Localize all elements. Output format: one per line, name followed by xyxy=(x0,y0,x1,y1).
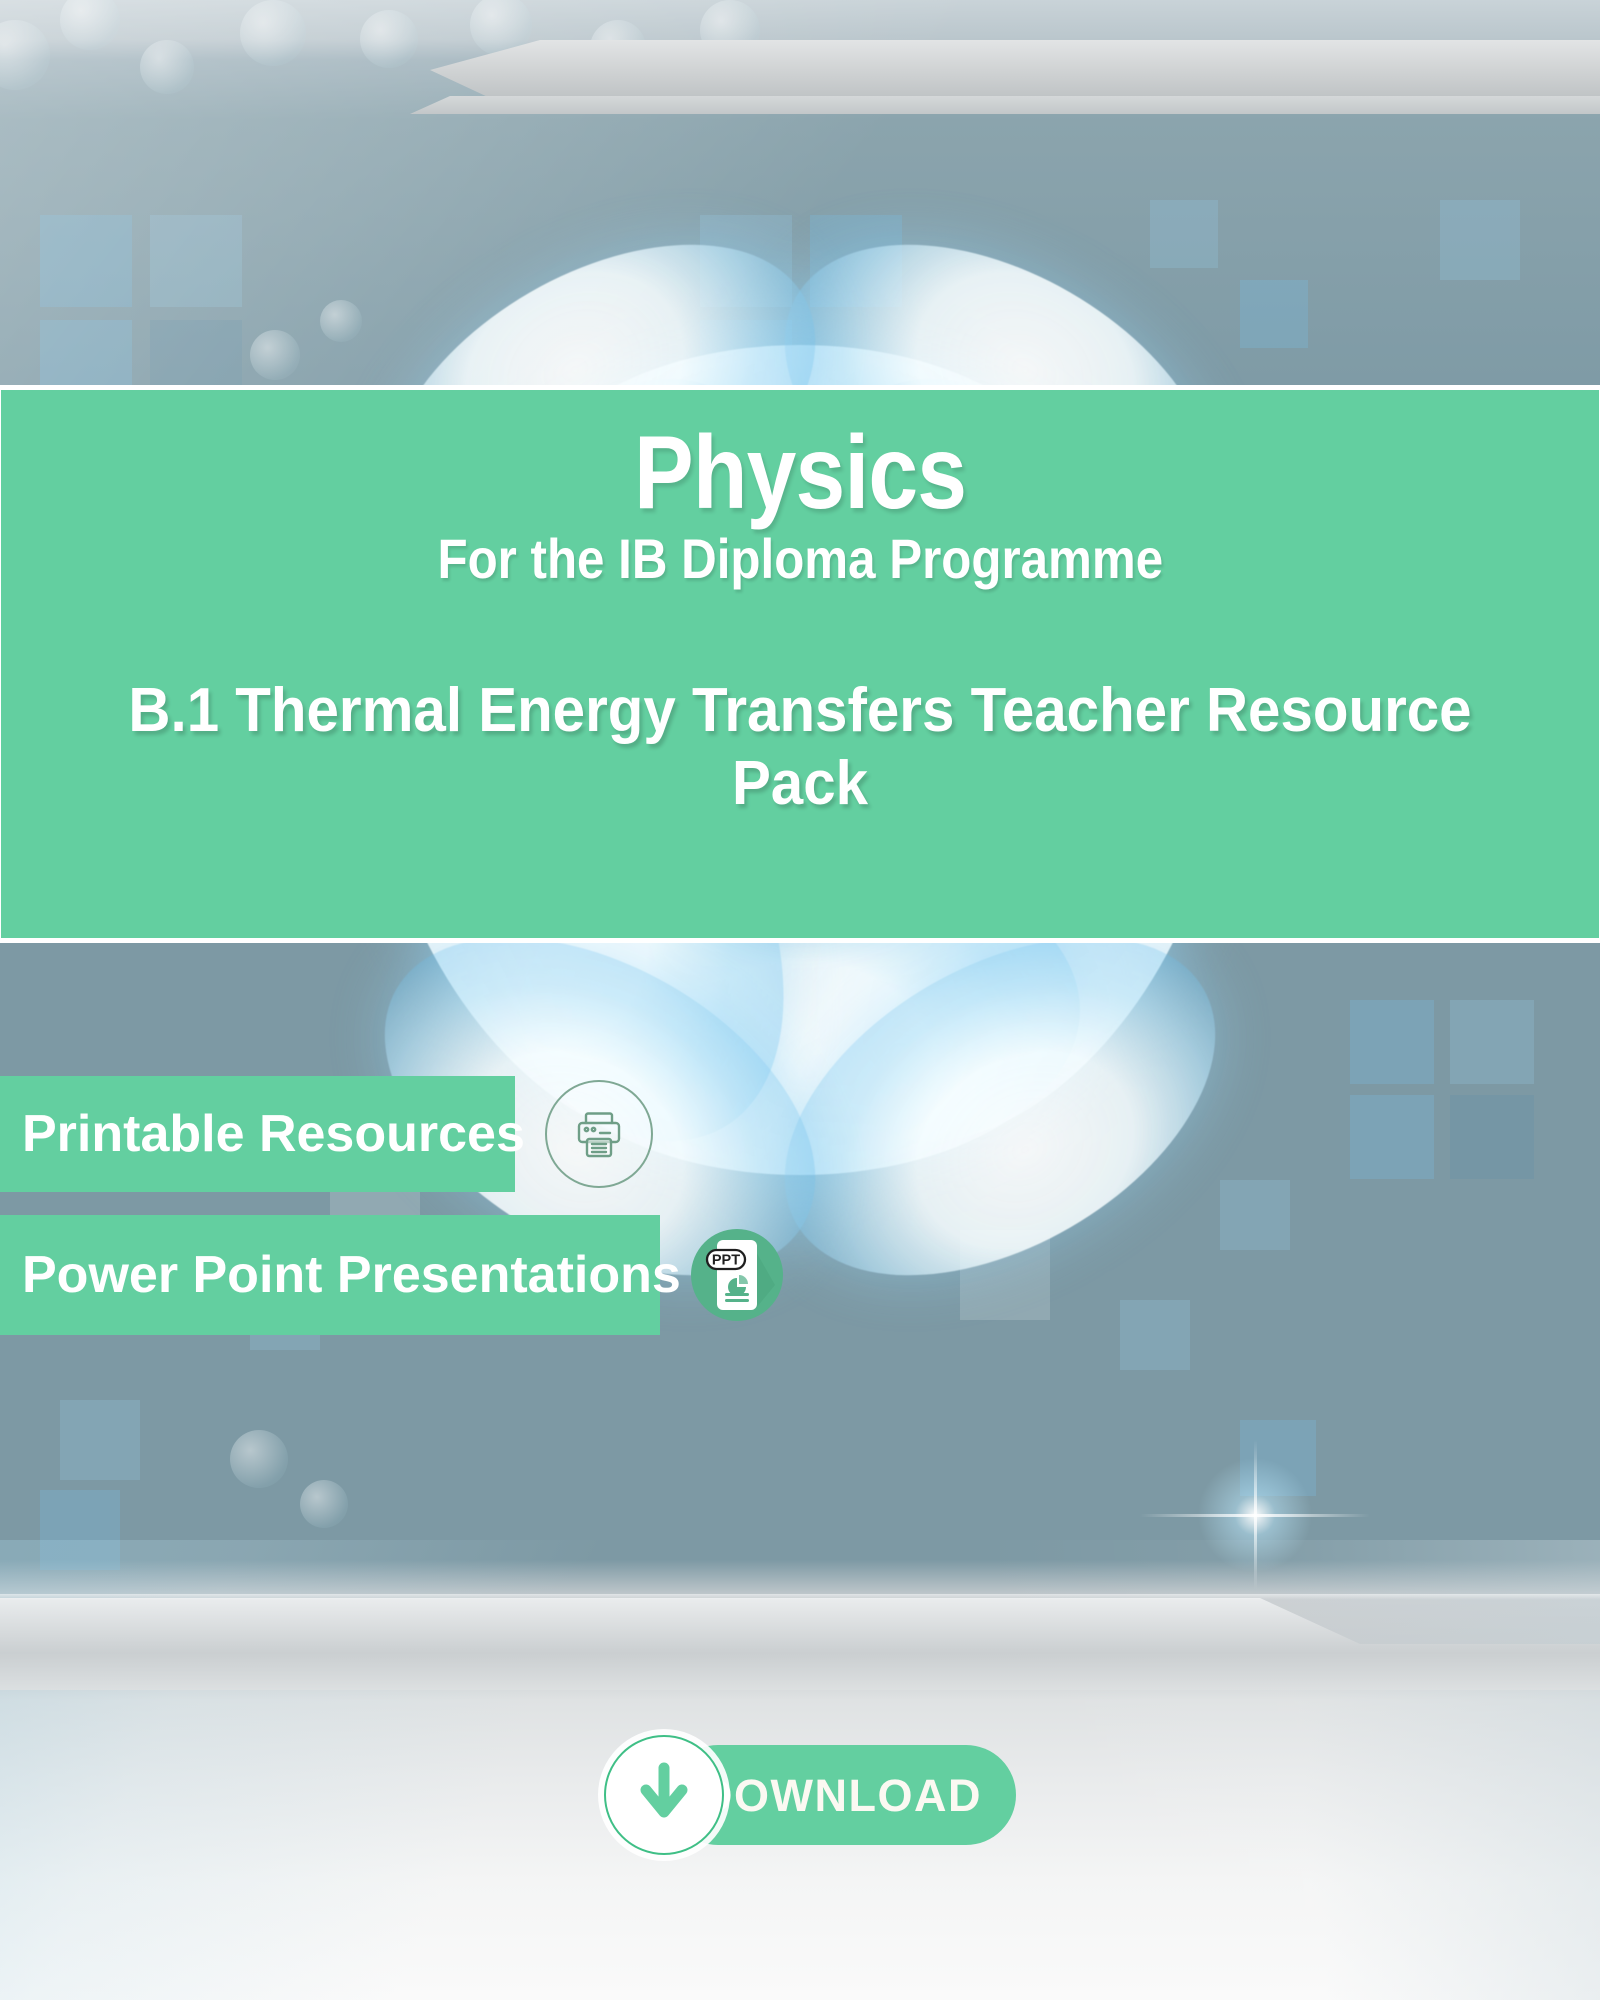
poster-page: Physics For the IB Diploma Programme B.1… xyxy=(0,0,1600,2000)
badge-bar: Printable Resources xyxy=(0,1076,515,1192)
download-button[interactable]: DOWNLOAD xyxy=(604,1735,1016,1855)
badge-icon-container: PPT xyxy=(682,1220,792,1330)
page-subtitle: For the IB Diploma Programme xyxy=(437,528,1163,590)
download-button-label: DOWNLOAD xyxy=(700,1773,982,1818)
badge-icon-container xyxy=(541,1076,657,1192)
powerpoint-file-icon: PPT xyxy=(685,1223,789,1327)
printer-icon-circle xyxy=(545,1080,653,1188)
badge-label-printable-resources: Printable Resources xyxy=(0,1108,525,1160)
badge-label-powerpoint-presentations: Power Point Presentations xyxy=(0,1249,681,1301)
resource-pack-title: B.1 Thermal Energy Transfers Teacher Res… xyxy=(95,674,1505,820)
badge-bar: Power Point Presentations xyxy=(0,1215,660,1335)
feature-badge-powerpoint-presentations[interactable]: Power Point Presentations PPT xyxy=(0,1215,792,1335)
chrome-ribbon-top-secondary xyxy=(270,96,1600,114)
page-title: Physics xyxy=(634,420,966,526)
title-panel: Physics For the IB Diploma Programme B.1… xyxy=(0,385,1600,943)
printer-icon xyxy=(567,1102,631,1166)
chrome-ribbon-top xyxy=(320,40,1600,98)
feature-badge-printable-resources[interactable]: Printable Resources xyxy=(0,1076,657,1192)
chrome-ribbon-bottom-edge xyxy=(0,1594,1600,1600)
svg-text:PPT: PPT xyxy=(712,1253,740,1269)
download-arrow-icon xyxy=(633,1762,695,1828)
background-artwork xyxy=(0,0,1600,2000)
download-icon-circle[interactable] xyxy=(604,1735,724,1855)
